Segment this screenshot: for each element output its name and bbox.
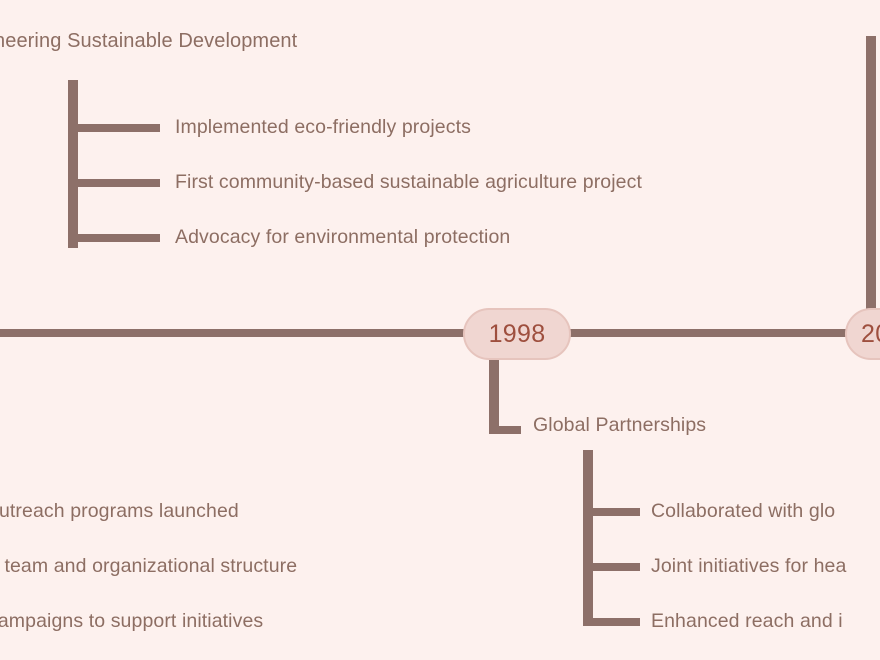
connector-vertical-1998 (489, 360, 499, 434)
bracket-arm-top-left-2 (68, 179, 160, 187)
connector-vertical-right-node (866, 36, 876, 318)
timeline-node-right[interactable]: 20 (845, 308, 880, 360)
event-title-sustainable-development: neering Sustainable Development (0, 31, 297, 51)
bracket-arm-bottom-right-2 (583, 563, 640, 571)
bracket-arm-bottom-right-3 (583, 618, 640, 626)
timeline-axis (0, 329, 880, 337)
bullet-bottom-left-1: outreach programs launched (0, 502, 239, 522)
event-title-global-partnerships: Global Partnerships (533, 416, 706, 436)
bullet-1998-2: Joint initiatives for hea (651, 557, 846, 577)
bullet-1998-1: Collaborated with glo (651, 502, 835, 522)
bullet-bottom-left-2: e team and organizational structure (0, 557, 297, 577)
bracket-arm-bottom-right-1 (583, 508, 640, 516)
bracket-arm-top-left-1 (68, 124, 160, 132)
bracket-arm-top-left-3 (68, 234, 160, 242)
bullet-bottom-left-3: campaigns to support initiatives (0, 612, 263, 632)
bracket-spine-bottom-right (583, 450, 593, 618)
connector-horizontal-1998 (489, 426, 521, 434)
bullet-top-left-1: Implemented eco-friendly projects (175, 118, 471, 138)
bullet-top-left-2: First community-based sustainable agricu… (175, 173, 642, 193)
bullet-1998-3: Enhanced reach and i (651, 612, 843, 632)
bullet-top-left-3: Advocacy for environmental protection (175, 228, 510, 248)
bracket-spine-top-left (68, 80, 78, 248)
timeline-node-1998[interactable]: 1998 (463, 308, 571, 360)
timeline-diagram: neering Sustainable Development Implemen… (0, 0, 880, 660)
